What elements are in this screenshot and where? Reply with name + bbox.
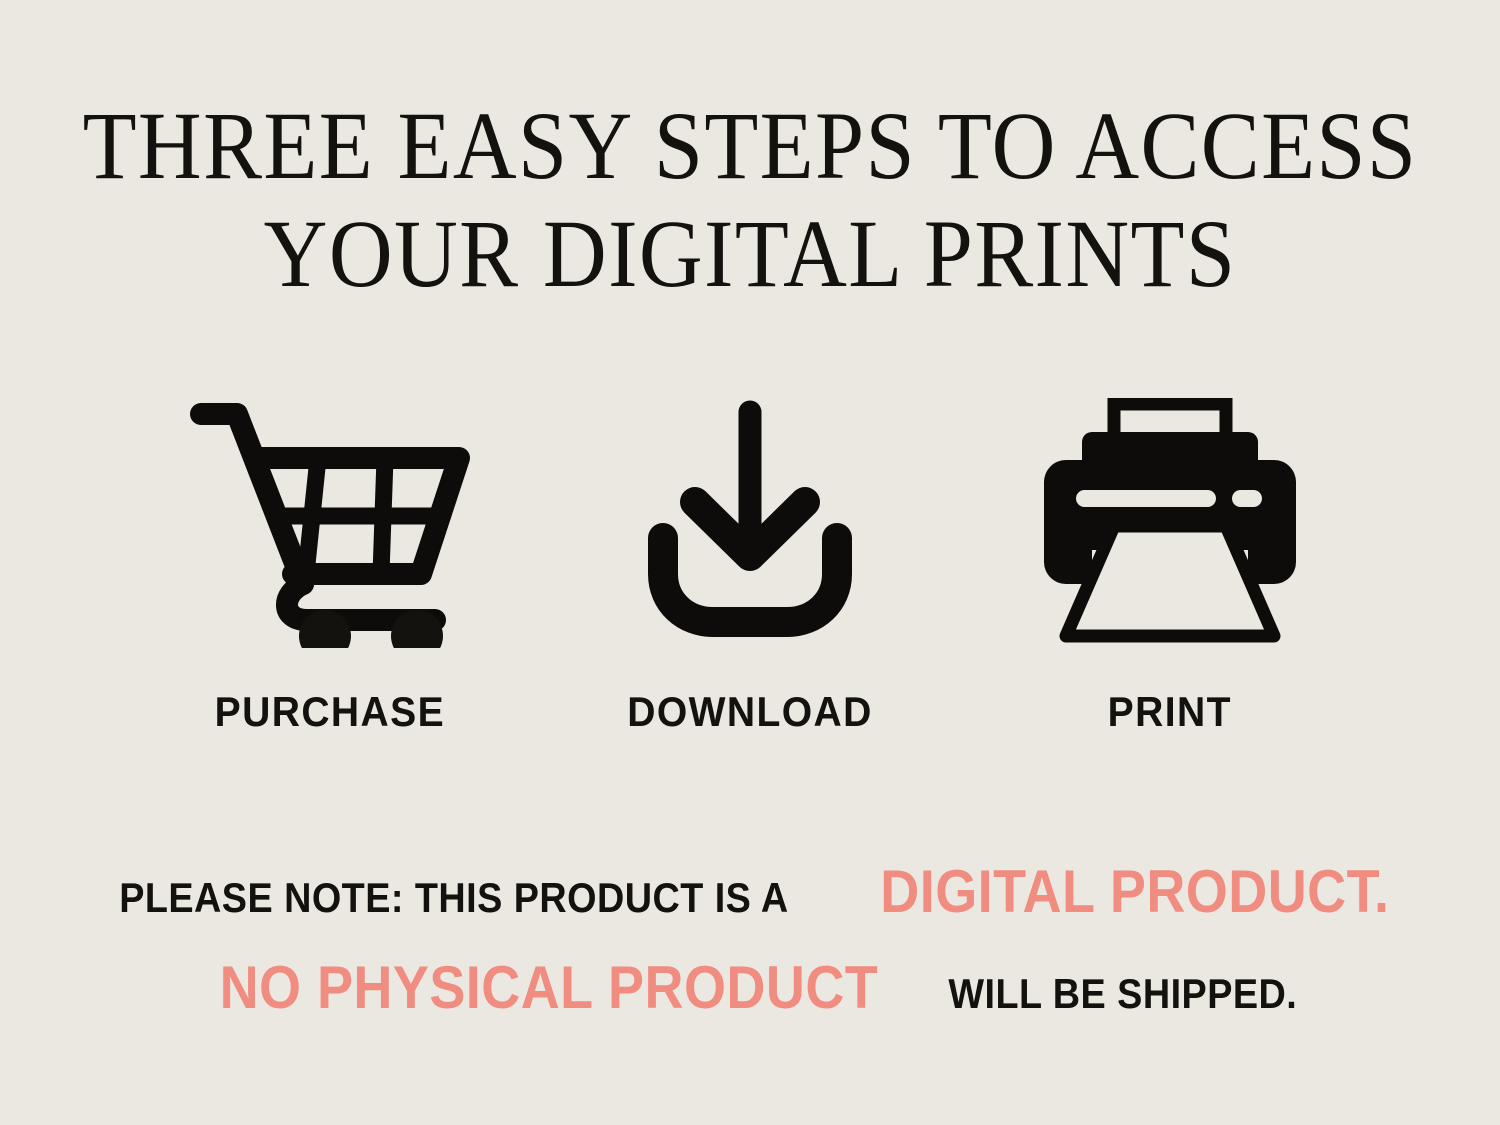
disclaimer-note: PLEASE NOTE: THIS PRODUCT IS ADIGITAL PR… bbox=[0, 862, 1500, 1018]
note-line-2-accent: NO PHYSICAL PRODUCT bbox=[220, 958, 879, 1018]
steps-row: PURCHASE DOWNLOAD bbox=[150, 392, 1350, 736]
step-purchase: PURCHASE bbox=[150, 392, 510, 736]
infographic-canvas: THREE EASY STEPS TO ACCESS YOUR DIGITAL … bbox=[0, 0, 1500, 1125]
note-line-1: PLEASE NOTE: THIS PRODUCT IS ADIGITAL PR… bbox=[0, 862, 1500, 922]
step-print: PRINT bbox=[990, 392, 1350, 736]
title-line-1: THREE EASY STEPS TO ACCESS bbox=[60, 92, 1440, 200]
step-download: DOWNLOAD bbox=[570, 392, 930, 736]
download-arrow-icon bbox=[635, 392, 865, 654]
page-title: THREE EASY STEPS TO ACCESS YOUR DIGITAL … bbox=[0, 92, 1500, 307]
shopping-cart-icon bbox=[185, 392, 475, 654]
note-line-2: NO PHYSICAL PRODUCTWILL BE SHIPPED. bbox=[0, 958, 1500, 1018]
title-line-2: YOUR DIGITAL PRINTS bbox=[60, 200, 1440, 308]
note-line-1-plain: PLEASE NOTE: THIS PRODUCT IS A bbox=[119, 877, 788, 919]
step-label-print: PRINT bbox=[1108, 688, 1232, 736]
note-line-1-accent: DIGITAL PRODUCT. bbox=[880, 862, 1389, 922]
step-label-purchase: PURCHASE bbox=[215, 688, 445, 736]
printer-icon bbox=[1036, 392, 1304, 654]
note-line-2-plain: WILL BE SHIPPED. bbox=[948, 973, 1297, 1015]
step-label-download: DOWNLOAD bbox=[627, 688, 872, 736]
